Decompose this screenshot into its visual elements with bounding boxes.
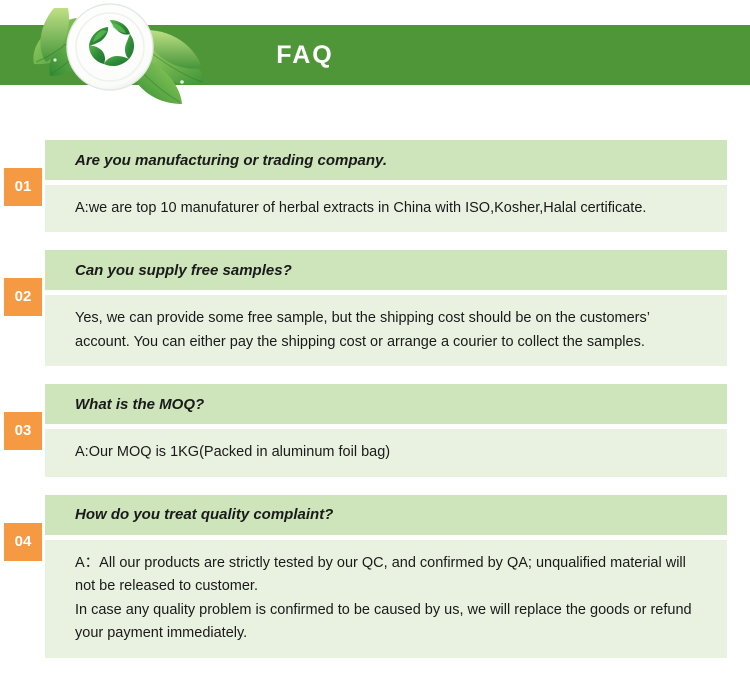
faq-question-row[interactable]: How do you treat quality complaint?	[45, 495, 727, 535]
faq-item: 04 How do you treat quality complaint? A…	[0, 495, 750, 658]
faq-answer-text: A:we are top 10 manufaturer of herbal ex…	[75, 200, 646, 216]
faq-answer-row: A:we are top 10 manufaturer of herbal ex…	[45, 185, 727, 232]
green-leaves-recycle-logo-icon	[24, 0, 224, 112]
faq-question-row[interactable]: Are you manufacturing or trading company…	[45, 140, 727, 180]
faq-number-badge: 01	[4, 168, 42, 206]
faq-answer-text: A:Our MOQ is 1KG(Packed in aluminum foil…	[75, 444, 390, 460]
faq-number-badge: 04	[4, 523, 42, 561]
faq-item: 02 Can you supply free samples? Yes, we …	[0, 250, 750, 366]
faq-number-badge: 03	[4, 412, 42, 450]
faq-question-text: Are you manufacturing or trading company…	[75, 152, 387, 169]
faq-question-text: What is the MOQ?	[75, 396, 204, 413]
faq-list: 01 Are you manufacturing or trading comp…	[0, 140, 750, 676]
faq-answer-row: A：All our products are strictly tested b…	[45, 540, 727, 658]
page-title: FAQ	[230, 25, 380, 85]
faq-answer-row: A:Our MOQ is 1KG(Packed in aluminum foil…	[45, 429, 727, 476]
faq-question-row[interactable]: Can you supply free samples?	[45, 250, 727, 290]
company-logo	[24, 0, 224, 112]
faq-number-badge: 02	[4, 278, 42, 316]
page-header: FAQ	[0, 0, 750, 112]
faq-item: 03 What is the MOQ? A:Our MOQ is 1KG(Pac…	[0, 384, 750, 476]
faq-question-text: How do you treat quality complaint?	[75, 506, 333, 523]
faq-answer-text: Yes, we can provide some free sample, bu…	[75, 310, 649, 349]
faq-question-row[interactable]: What is the MOQ?	[45, 384, 727, 424]
faq-item: 01 Are you manufacturing or trading comp…	[0, 140, 750, 232]
faq-answer-text: A：All our products are strictly tested b…	[75, 555, 692, 641]
faq-question-text: Can you supply free samples?	[75, 262, 292, 279]
faq-answer-row: Yes, we can provide some free sample, bu…	[45, 295, 727, 366]
